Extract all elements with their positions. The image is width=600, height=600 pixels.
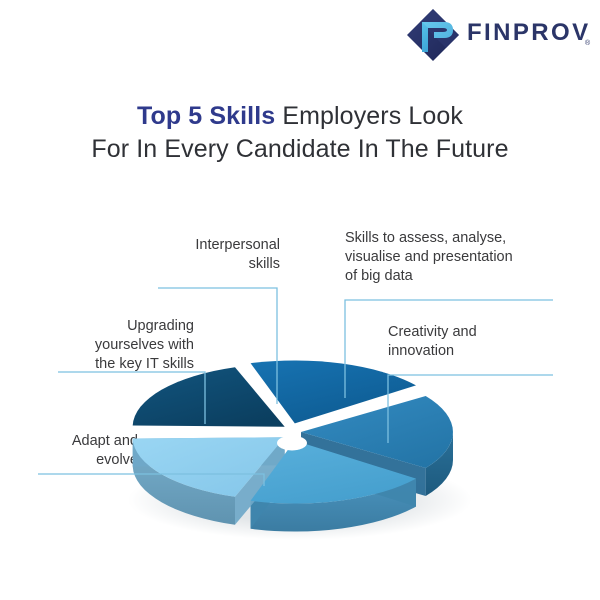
connector-upgrading xyxy=(58,372,205,424)
connector-creativity xyxy=(388,375,553,443)
connector-bigdata xyxy=(345,300,553,398)
connector-interpersonal xyxy=(158,288,277,404)
connector-adapt xyxy=(38,474,264,486)
infographic-canvas: FINPROV ® Top 5 Skills Employers Look Fo… xyxy=(0,0,600,600)
callout-connectors xyxy=(0,0,600,600)
